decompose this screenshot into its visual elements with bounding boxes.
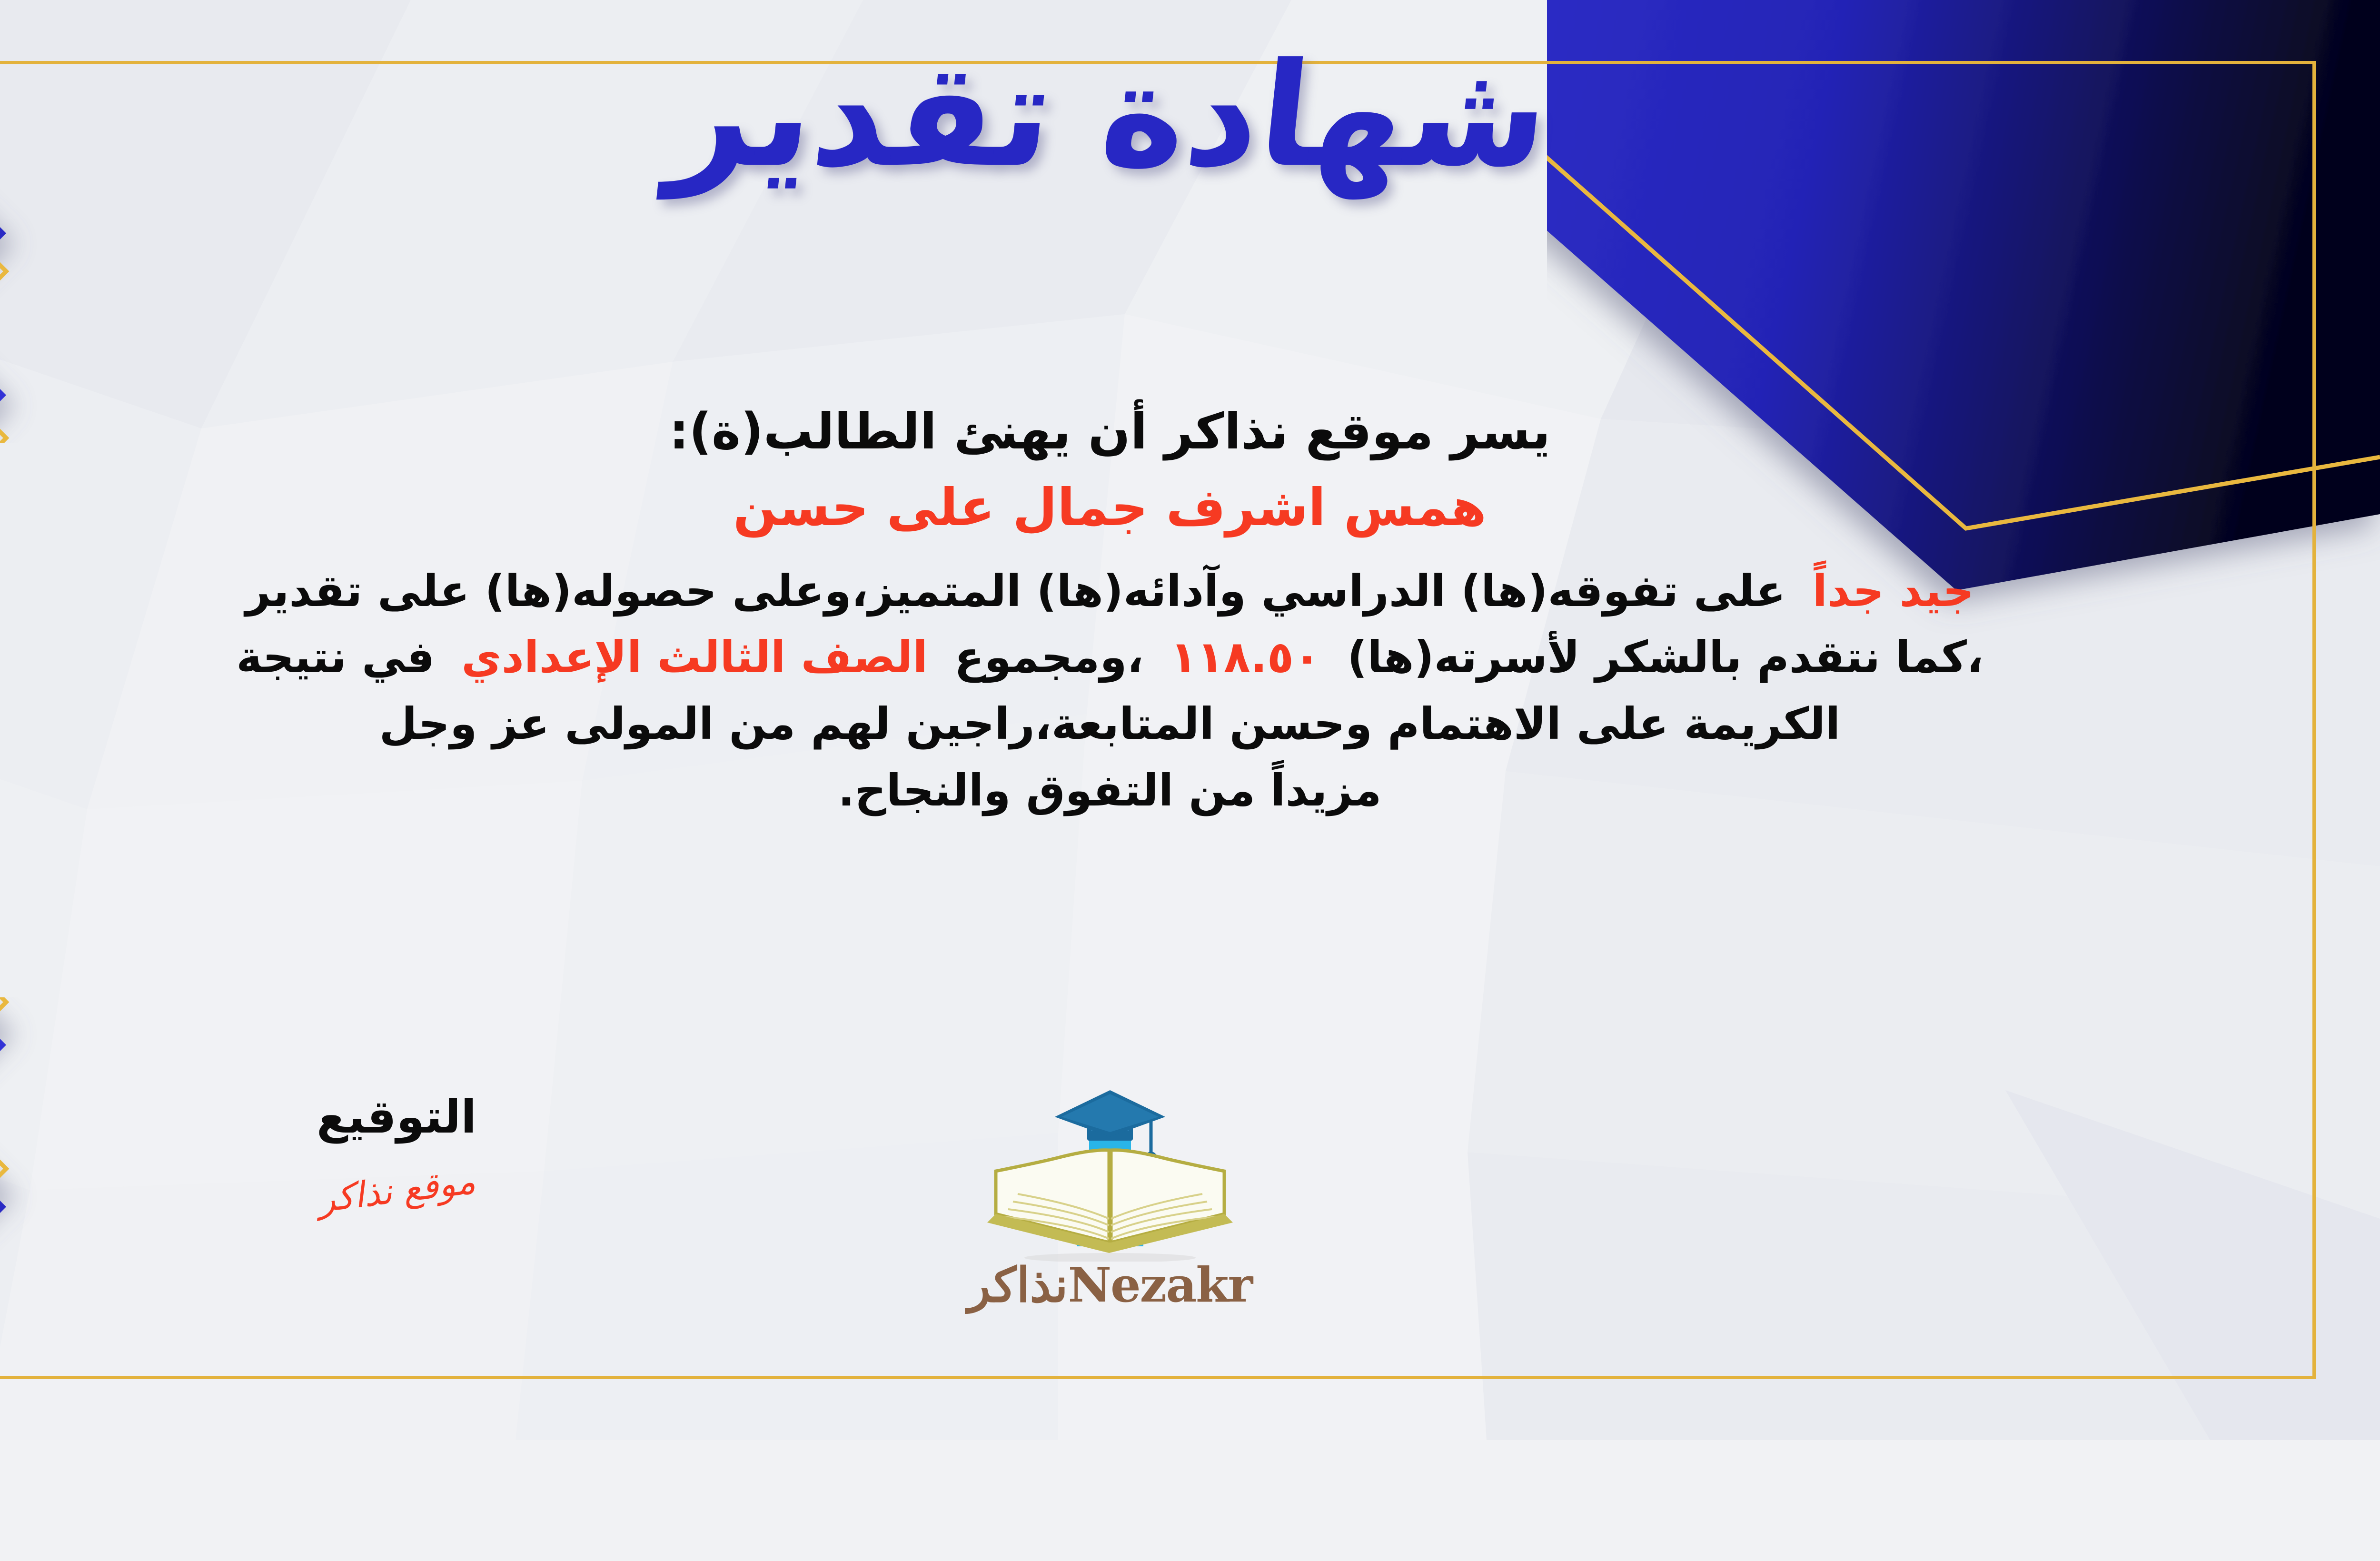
certificate-body: يسر موقع نذاكر أن يهنئ الطالب(ة): همس اش… (0, 400, 2285, 824)
corner-decoration-bottom-left (0, 997, 301, 1559)
graduation-book-logo-icon (977, 1071, 1243, 1262)
result-prefix: في نتيجة (236, 632, 435, 683)
site-logo: Nezakrنذاكر (896, 1071, 1324, 1313)
signature-label: التوقيع (211, 1090, 582, 1143)
student-name: همس اشرف جمال على حسن (0, 475, 2285, 541)
signature-block: التوقيع موقع نذاكر (211, 1090, 582, 1211)
result-line: ،كما نتقدم بالشكر لأسرته(ها)١١٨.٥٠،ومجمو… (0, 624, 2285, 691)
achievement-line: جيد جداًعلى تفوقه(ها) الدراسي وآدائه(ها)… (0, 558, 2285, 625)
logo-wordmark: Nezakrنذاكر (896, 1257, 1324, 1313)
total-label: ،ومجموع (954, 632, 1144, 683)
achievement-text: على تفوقه(ها) الدراسي وآدائه(ها) المتميز… (245, 566, 1785, 616)
corner-decoration-top-left (0, 0, 301, 443)
intro-line: يسر موقع نذاكر أن يهنئ الطالب(ة): (0, 400, 2285, 463)
total-score: ١١٨.٥٠ (1170, 632, 1320, 683)
gratitude-line: الكريمة على الاهتمام وحسن المتابعة،راجين… (0, 691, 2285, 757)
closing-line: مزيداً من التفوق والنجاح. (0, 757, 2285, 824)
family-thanks-text: ،كما نتقدم بالشكر لأسرته(ها) (1347, 632, 1983, 683)
grade-value: جيد جداً (1813, 566, 1974, 616)
class-name: الصف الثالث الإعدادي (461, 632, 928, 683)
